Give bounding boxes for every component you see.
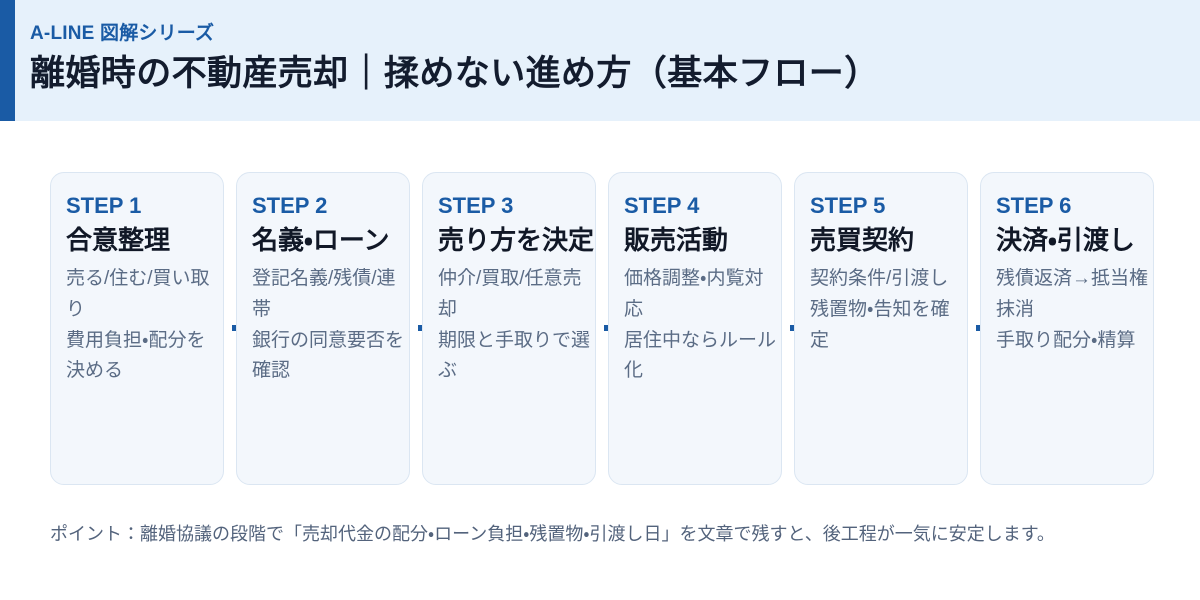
step-body-line1-6: 残債返済→抵当権抹消 [996,268,1148,320]
step-body-line2-3: 期限と手取りで選ぶ [438,326,590,388]
step-body-1: 売る/住む/買い取り 費用負担・配分を決める [66,264,218,387]
flow-step-card-2[interactable]: STEP 2 名義・ローン 登記名義/残債/連帯 銀行の同意要否を確認 [236,172,410,485]
step-title-4: 販売活動 [624,223,782,257]
page-title: 離婚時の不動産売却｜揉めない進め方（基本フロー） [30,53,1180,96]
point-note: ポイント：離婚協議の段階で「売却代金の配分・ローン負担・残置物・引渡し日」を文章… [50,521,1170,548]
flow-step-content-6: STEP 6 決済・引渡し 残債返済→抵当権抹消 手取り配分・精算 [996,191,1154,356]
step-body-5: 契約条件/引渡し 残置物・告知を確定 [810,264,962,356]
flow-step-content-5: STEP 5 売買契約 契約条件/引渡し 残置物・告知を確定 [810,191,968,356]
page-header: A-LINE 図解シリーズ 離婚時の不動産売却｜揉めない進め方（基本フロー） [0,0,1200,121]
flow-step-card-1[interactable]: STEP 1 合意整理 売る/住む/買い取り 費用負担・配分を決める [50,172,224,485]
flow-step-content-2: STEP 2 名義・ローン 登記名義/残債/連帯 銀行の同意要否を確認 [252,191,410,387]
flow-step-content-4: STEP 4 販売活動 価格調整・内覧対応 居住中ならルール化 [624,191,782,387]
flow-step-content-1: STEP 1 合意整理 売る/住む/買い取り 費用負担・配分を決める [66,191,224,387]
step-body-line2-4: 居住中ならルール化 [624,326,776,388]
flow-step-card-3[interactable]: STEP 3 売り方を決定 仲介/買取/任意売却 期限と手取りで選ぶ [422,172,596,485]
step-body-line1-3: 仲介/買取/任意売却 [438,268,582,320]
step-body-line2-1: 費用負担・配分を決める [66,326,218,388]
header-text-block: A-LINE 図解シリーズ 離婚時の不動産売却｜揉めない進め方（基本フロー） [30,22,1180,95]
step-body-line1-1: 売る/住む/買い取り [66,268,210,320]
step-title-6: 決済・引渡し [996,223,1154,257]
series-eyebrow: A-LINE 図解シリーズ [30,22,1180,46]
flow-step-card-5[interactable]: STEP 5 売買契約 契約条件/引渡し 残置物・告知を確定 [794,172,968,485]
step-label-5: STEP 5 [810,191,968,221]
step-body-line2-5: 残置物・告知を確定 [810,295,962,357]
step-title-5: 売買契約 [810,223,968,257]
flow-diagram: STEP 1 合意整理 売る/住む/買い取り 費用負担・配分を決める STEP … [50,172,1160,485]
step-body-line2-6: 手取り配分・精算 [996,326,1148,357]
step-body-2: 登記名義/残債/連帯 銀行の同意要否を確認 [252,264,404,387]
step-title-1: 合意整理 [66,223,224,257]
flow-step-card-6[interactable]: STEP 6 決済・引渡し 残債返済→抵当権抹消 手取り配分・精算 [980,172,1154,485]
step-body-line2-2: 銀行の同意要否を確認 [252,326,404,388]
step-title-2: 名義・ローン [252,223,410,257]
step-body-4: 価格調整・内覧対応 居住中ならルール化 [624,264,776,387]
step-body-3: 仲介/買取/任意売却 期限と手取りで選ぶ [438,264,590,387]
step-label-4: STEP 4 [624,191,782,221]
step-label-3: STEP 3 [438,191,596,221]
step-label-1: STEP 1 [66,191,224,221]
step-label-2: STEP 2 [252,191,410,221]
step-body-line1-5: 契約条件/引渡し [810,268,948,289]
step-label-6: STEP 6 [996,191,1154,221]
step-title-3: 売り方を決定 [438,223,596,257]
step-body-6: 残債返済→抵当権抹消 手取り配分・精算 [996,264,1148,356]
step-body-line1-4: 価格調整・内覧対応 [624,268,763,320]
step-body-line1-2: 登記名義/残債/連帯 [252,268,396,320]
header-accent-bar [0,0,15,121]
flow-step-card-4[interactable]: STEP 4 販売活動 価格調整・内覧対応 居住中ならルール化 [608,172,782,485]
flow-step-content-3: STEP 3 売り方を決定 仲介/買取/任意売却 期限と手取りで選ぶ [438,191,596,387]
